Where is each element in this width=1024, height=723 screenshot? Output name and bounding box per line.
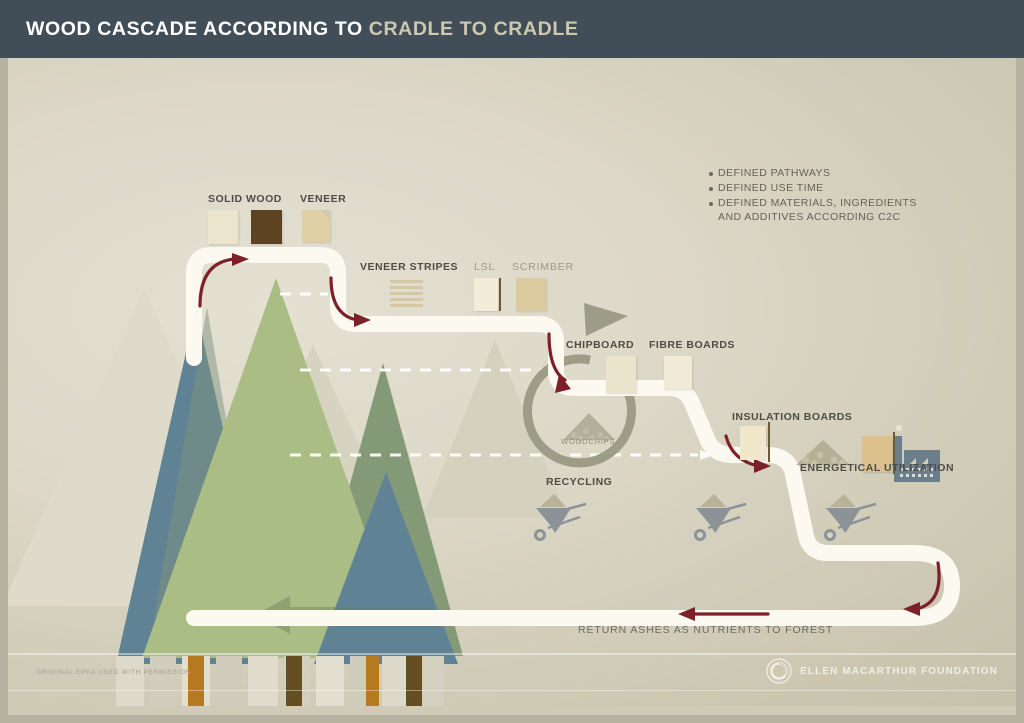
principle-item: DEFINED PATHWAYS xyxy=(709,166,917,180)
label-return-ashes: RETURN ASHES AS NUTRIENTS TO FOREST xyxy=(578,624,833,636)
emf-logo-block: ELLEN MACARTHUR FOUNDATION xyxy=(766,658,998,684)
label-veneer: VENEER xyxy=(300,193,346,205)
principle-item: DEFINED USE TIME xyxy=(709,181,917,195)
footer-divider xyxy=(8,690,1016,691)
page-title-accent: CRADLE TO CRADLE xyxy=(369,18,579,40)
label-veneer-stripes: VENEER STRIPES xyxy=(360,261,458,273)
diagram-canvas: SOLID WOOD VENEER VENEER STRIPES LSL SCR… xyxy=(8,58,1016,715)
credit-text: ORIGINAL EPEA USED WITH PERMISSION xyxy=(37,669,191,676)
principle-label: DEFINED MATERIALS, INGREDIENTS AND ADDIT… xyxy=(718,196,917,224)
ground-divider xyxy=(8,653,1016,655)
page-title-main: WOOD CASCADE ACCORDING TO xyxy=(26,18,369,40)
label-scrimber: SCRIMBER xyxy=(512,261,574,273)
label-lsl: LSL xyxy=(474,261,495,273)
energetical-icons xyxy=(8,58,1016,715)
swatch-veneer-stripes xyxy=(390,280,423,310)
principle-label: DEFINED USE TIME xyxy=(718,181,824,195)
header-bar: WOOD CASCADE ACCORDING TO CRADLE TO CRAD… xyxy=(0,0,1024,58)
label-fibre-boards: FIBRE BOARDS xyxy=(649,339,735,351)
bullet-dot-icon xyxy=(709,202,713,206)
principles-list: DEFINED PATHWAYS DEFINED USE TIME DEFINE… xyxy=(709,166,917,225)
label-recycling: RECYCLING xyxy=(546,476,612,488)
label-woodchips: WOODCHIPS xyxy=(561,437,615,446)
swatch-solid-wood-dark xyxy=(251,210,282,244)
label-energetical-utilization: ENERGETICAL UTILIZATION xyxy=(800,462,954,474)
label-solid-wood: SOLID WOOD xyxy=(208,193,282,205)
swatch-scrimber xyxy=(516,278,546,311)
bullet-dot-icon xyxy=(709,187,713,191)
label-chipboard: CHIPBOARD xyxy=(566,339,634,351)
principle-label: DEFINED PATHWAYS xyxy=(718,166,830,180)
swatch-veneer xyxy=(302,210,330,242)
swatch-chipboard xyxy=(606,356,636,393)
swatch-lsl xyxy=(474,278,498,311)
page-title: WOOD CASCADE ACCORDING TO CRADLE TO CRAD… xyxy=(26,18,578,41)
principle-item: DEFINED MATERIALS, INGREDIENTS AND ADDIT… xyxy=(709,196,917,224)
infographic-root: WOOD CASCADE ACCORDING TO CRADLE TO CRAD… xyxy=(0,0,1024,723)
swatch-insulation-edge xyxy=(768,422,770,462)
swatch-insulation-boards xyxy=(740,426,766,460)
emf-name: ELLEN MACARTHUR FOUNDATION xyxy=(800,666,998,677)
bullet-dot-icon xyxy=(709,172,713,176)
swatch-lsl-edge xyxy=(499,278,501,311)
emf-circle-icon xyxy=(766,658,792,684)
label-insulation-boards: INSULATION BOARDS xyxy=(732,411,852,423)
swatch-solid-wood-light xyxy=(208,210,238,244)
swatch-fibre-boards xyxy=(664,356,692,389)
